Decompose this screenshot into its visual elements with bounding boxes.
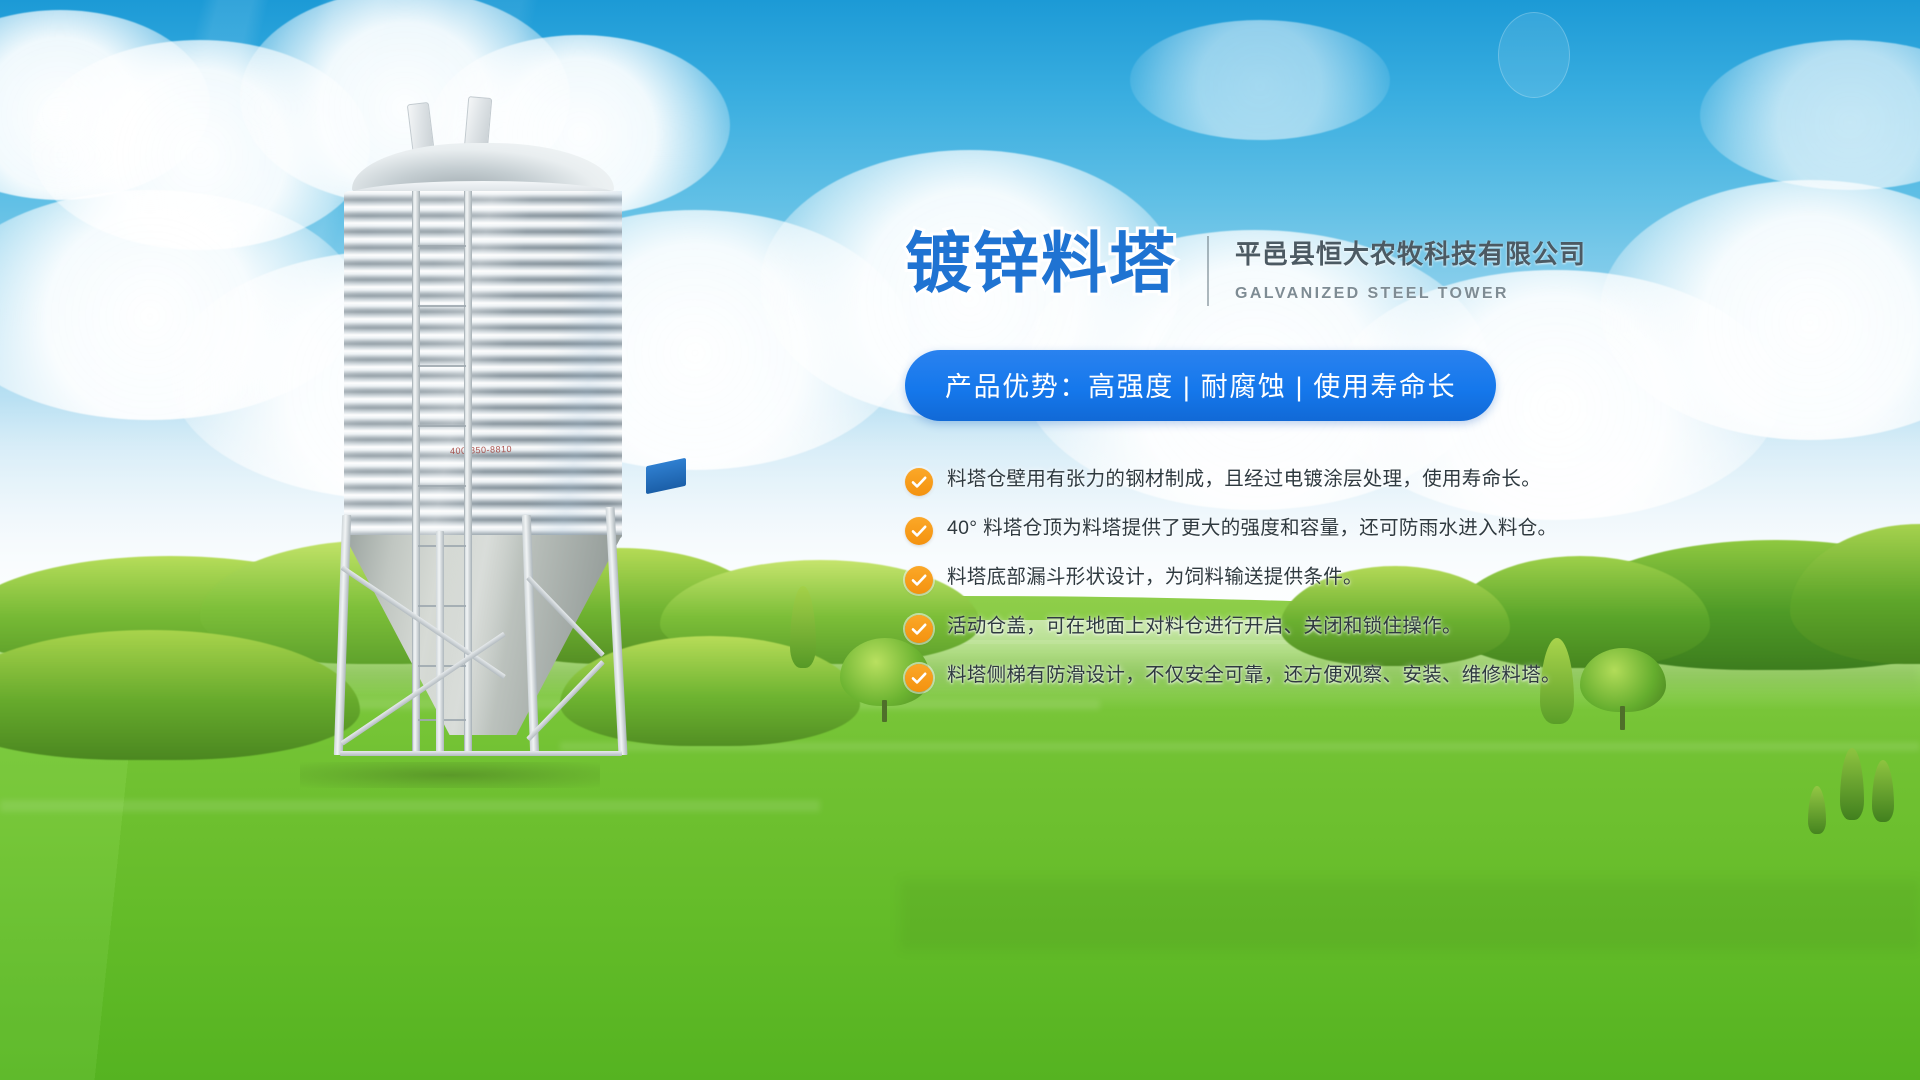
feature-list: 料塔仓壁用有张力的钢材制成，且经过电镀涂层处理，使用寿命长。 40° 料塔仓顶为… xyxy=(905,467,1605,691)
silo-ladder-rung xyxy=(418,485,466,487)
title-divider xyxy=(1207,236,1209,306)
feature-text: 料塔仓壁用有张力的钢材制成，且经过电镀涂层处理，使用寿命长。 xyxy=(947,467,1541,491)
silo-corrugated-body xyxy=(344,191,622,539)
check-circle-icon xyxy=(905,468,933,496)
silo-cross-brace xyxy=(340,751,622,756)
feature-text: 料塔底部漏斗形状设计，为饲料输送提供条件。 xyxy=(947,565,1363,589)
page-title: 镀锌料塔 xyxy=(905,230,1177,296)
silo-ladder-rung xyxy=(418,305,466,307)
lens-flare-circle xyxy=(1498,12,1570,98)
silo-ladder xyxy=(464,191,472,751)
silo-support-leg xyxy=(334,515,351,755)
list-item: 40° 料塔仓顶为料塔提供了更大的强度和容量，还可防雨水进入料仓。 xyxy=(905,516,1605,544)
silo-ladder-rung xyxy=(418,425,466,427)
advantages-badge: 产品优势：高强度 | 耐腐蚀 | 使用寿命长 xyxy=(905,350,1496,421)
list-item: 料塔底部漏斗形状设计，为饲料输送提供条件。 xyxy=(905,565,1605,593)
tree-trunk xyxy=(882,700,887,722)
feature-text: 40° 料塔仓顶为料塔提供了更大的强度和容量，还可防雨水进入料仓。 xyxy=(947,516,1557,540)
silo-ladder-rung xyxy=(418,245,466,247)
company-block: 平邑县恒大农牧科技有限公司 GALVANIZED STEEL TOWER xyxy=(1235,230,1586,303)
lawn-stripe xyxy=(0,800,820,812)
list-item: 料塔侧梯有防滑设计，不仅安全可靠，还方便观察、安装、维修料塔。 xyxy=(905,663,1605,691)
company-name-en: GALVANIZED STEEL TOWER xyxy=(1235,285,1586,303)
silo-support-leg xyxy=(606,507,628,755)
galvanized-feed-silo: 400-850-8810 xyxy=(300,95,720,775)
feature-text: 料塔侧梯有防滑设计，不仅安全可靠，还方便观察、安装、维修料塔。 xyxy=(947,663,1561,687)
silo-support-leg xyxy=(436,531,444,755)
silo-ladder-rung xyxy=(418,365,466,367)
company-name: 平邑县恒大农牧科技有限公司 xyxy=(1235,234,1586,271)
check-circle-icon xyxy=(905,517,933,545)
product-hero-banner: 400-850-8810 镀锌料塔 平邑县恒大农牧科技有限公司 xyxy=(0,0,1920,1080)
list-item: 活动仓盖，可在地面上对料仓进行开启、关闭和锁住操作。 xyxy=(905,614,1605,642)
lawn-shade xyxy=(900,880,1920,950)
cloud xyxy=(1130,20,1390,140)
list-item: 料塔仓壁用有张力的钢材制成，且经过电镀涂层处理，使用寿命长。 xyxy=(905,467,1605,495)
check-circle-icon xyxy=(905,566,933,594)
check-circle-icon xyxy=(905,615,933,643)
headline-row: 镀锌料塔 平邑县恒大农牧科技有限公司 GALVANIZED STEEL TOWE… xyxy=(905,230,1605,306)
tree-trunk xyxy=(1620,706,1625,730)
silo-ladder xyxy=(412,191,420,751)
check-circle-icon xyxy=(905,664,933,692)
feature-text: 活动仓盖，可在地面上对料仓进行开启、关闭和锁住操作。 xyxy=(947,614,1462,638)
hero-copy: 镀锌料塔 平邑县恒大农牧科技有限公司 GALVANIZED STEEL TOWE… xyxy=(905,230,1605,691)
